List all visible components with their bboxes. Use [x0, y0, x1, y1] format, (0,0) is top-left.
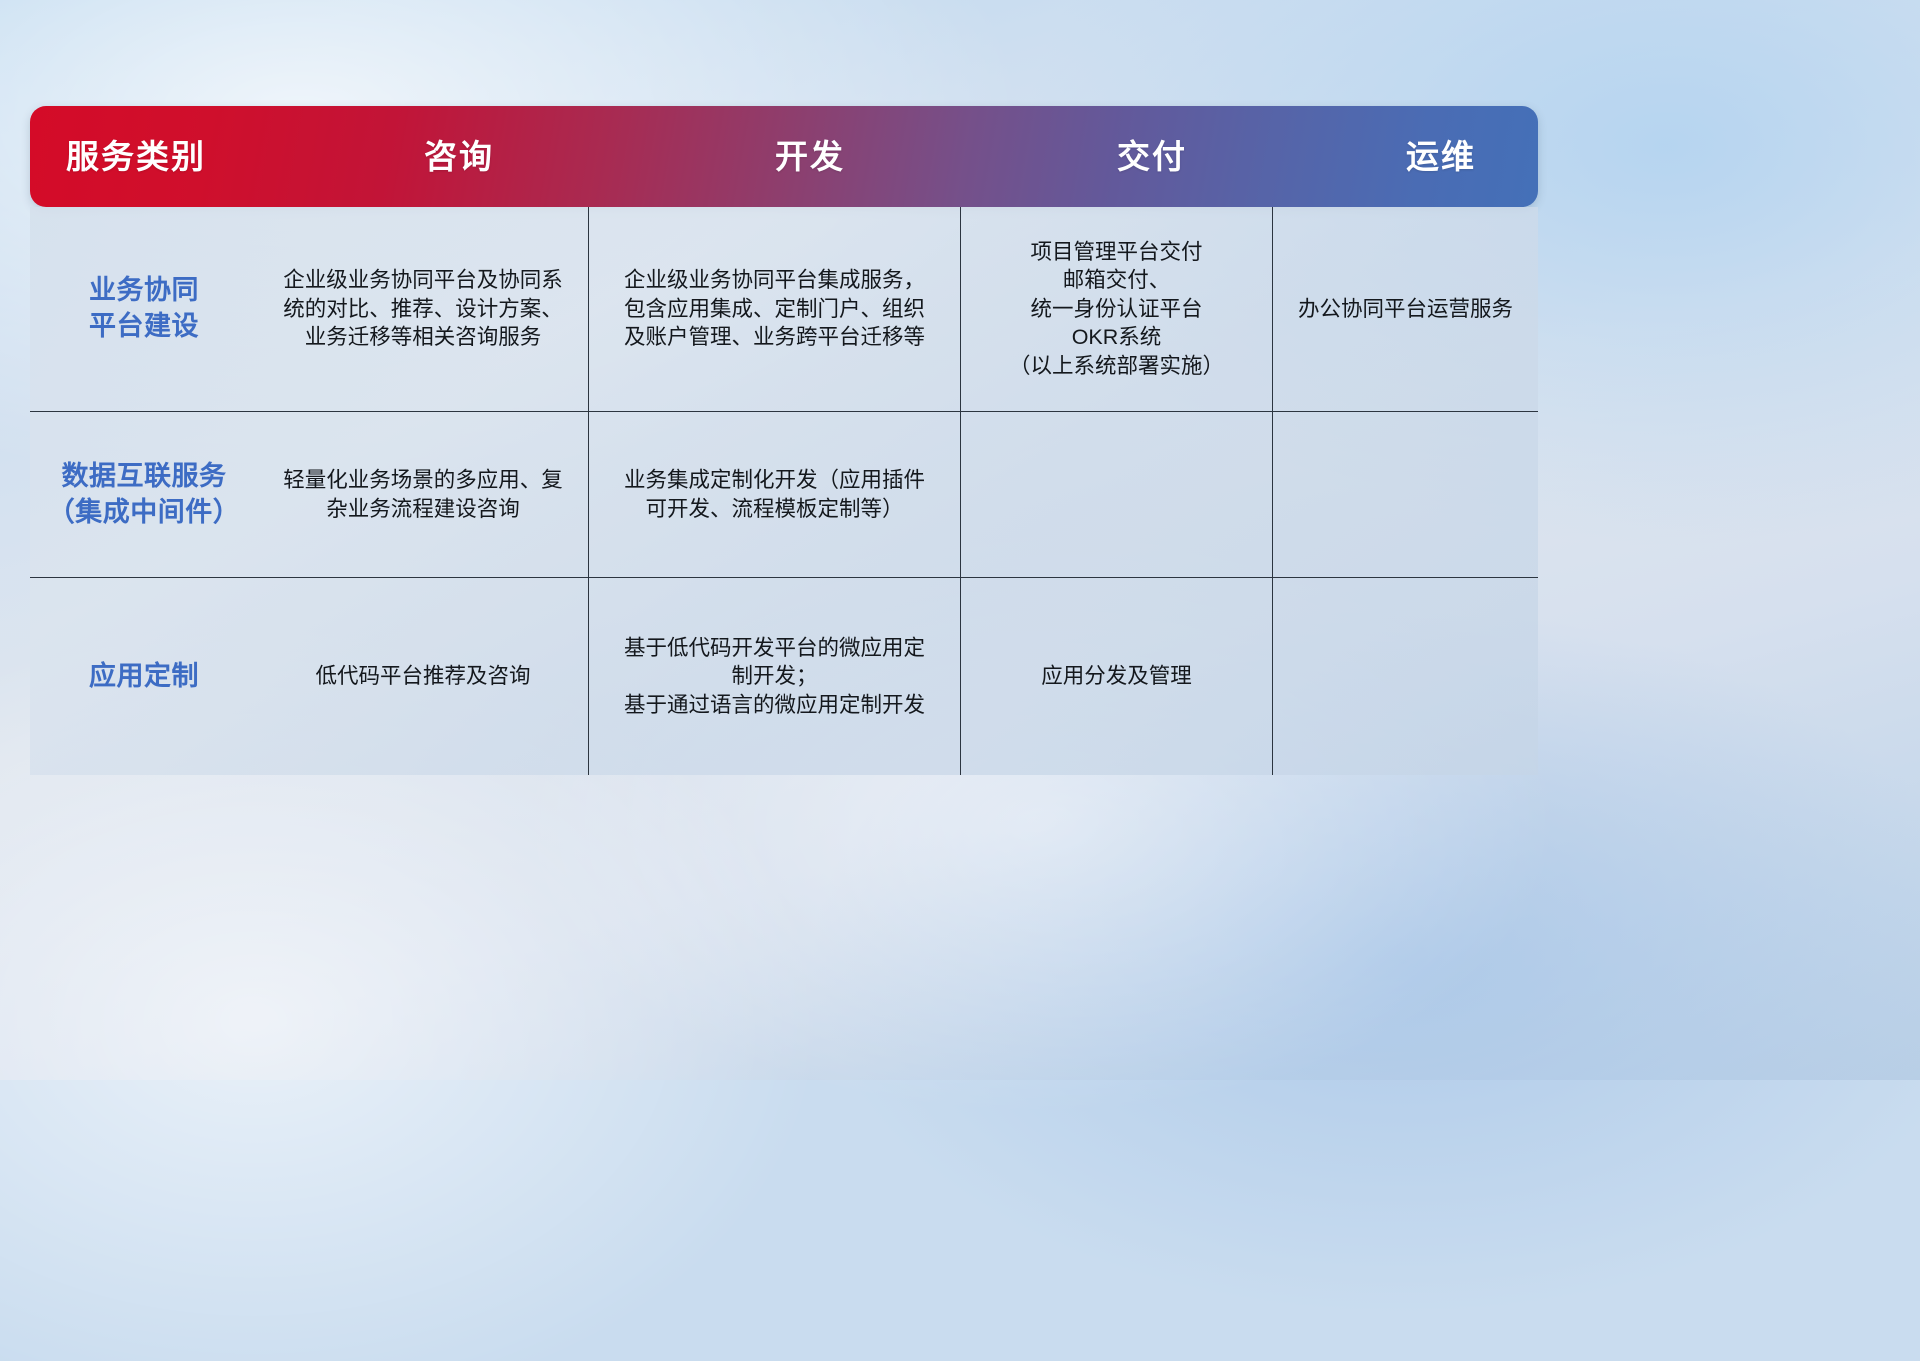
cell-consulting: 低代码平台推荐及咨询: [258, 578, 588, 775]
cell-consulting: 企业级业务协同平台及协同系 统的对比、推荐、设计方案、 业务迁移等相关咨询服务: [258, 207, 588, 411]
table-body: 业务协同 平台建设 企业级业务协同平台及协同系 统的对比、推荐、设计方案、 业务…: [30, 207, 1538, 775]
cell-development: 业务集成定制化开发（应用插件 可开发、流程模板定制等）: [588, 412, 960, 577]
cell-delivery: 项目管理平台交付 邮箱交付、 统一身份认证平台 OKR系统 （以上系统部署实施）: [960, 207, 1272, 411]
column-header-operations: 运维: [1308, 106, 1538, 207]
table-row: 业务协同 平台建设 企业级业务协同平台及协同系 统的对比、推荐、设计方案、 业务…: [30, 207, 1538, 411]
cell-operations: 办公协同平台运营服务: [1272, 207, 1538, 411]
cell-category: 应用定制: [30, 578, 258, 775]
table-row: 数据互联服务 （集成中间件） 轻量化业务场景的多应用、复 杂业务流程建设咨询 业…: [30, 411, 1538, 577]
table-row: 应用定制 低代码平台推荐及咨询 基于低代码开发平台的微应用定 制开发； 基于通过…: [30, 577, 1538, 775]
cell-development: 企业级业务协同平台集成服务， 包含应用集成、定制门户、组织 及账户管理、业务跨平…: [588, 207, 960, 411]
column-header-consulting: 咨询: [294, 106, 624, 207]
cell-category: 业务协同 平台建设: [30, 207, 258, 411]
column-header-delivery: 交付: [996, 106, 1308, 207]
cell-operations: [1272, 578, 1538, 775]
cell-category: 数据互联服务 （集成中间件）: [30, 412, 258, 577]
table-header-row: 服务类别 咨询 开发 交付 运维: [30, 106, 1538, 207]
cell-delivery: [960, 412, 1272, 577]
cell-operations: [1272, 412, 1538, 577]
column-header-category: 服务类别: [30, 106, 294, 207]
service-matrix-table: 服务类别 咨询 开发 交付 运维 业务协同 平台建设 企业级业务协同平台及协同系…: [30, 106, 1538, 775]
cell-delivery: 应用分发及管理: [960, 578, 1272, 775]
column-header-development: 开发: [624, 106, 996, 207]
cell-development: 基于低代码开发平台的微应用定 制开发； 基于通过语言的微应用定制开发: [588, 578, 960, 775]
cell-consulting: 轻量化业务场景的多应用、复 杂业务流程建设咨询: [258, 412, 588, 577]
